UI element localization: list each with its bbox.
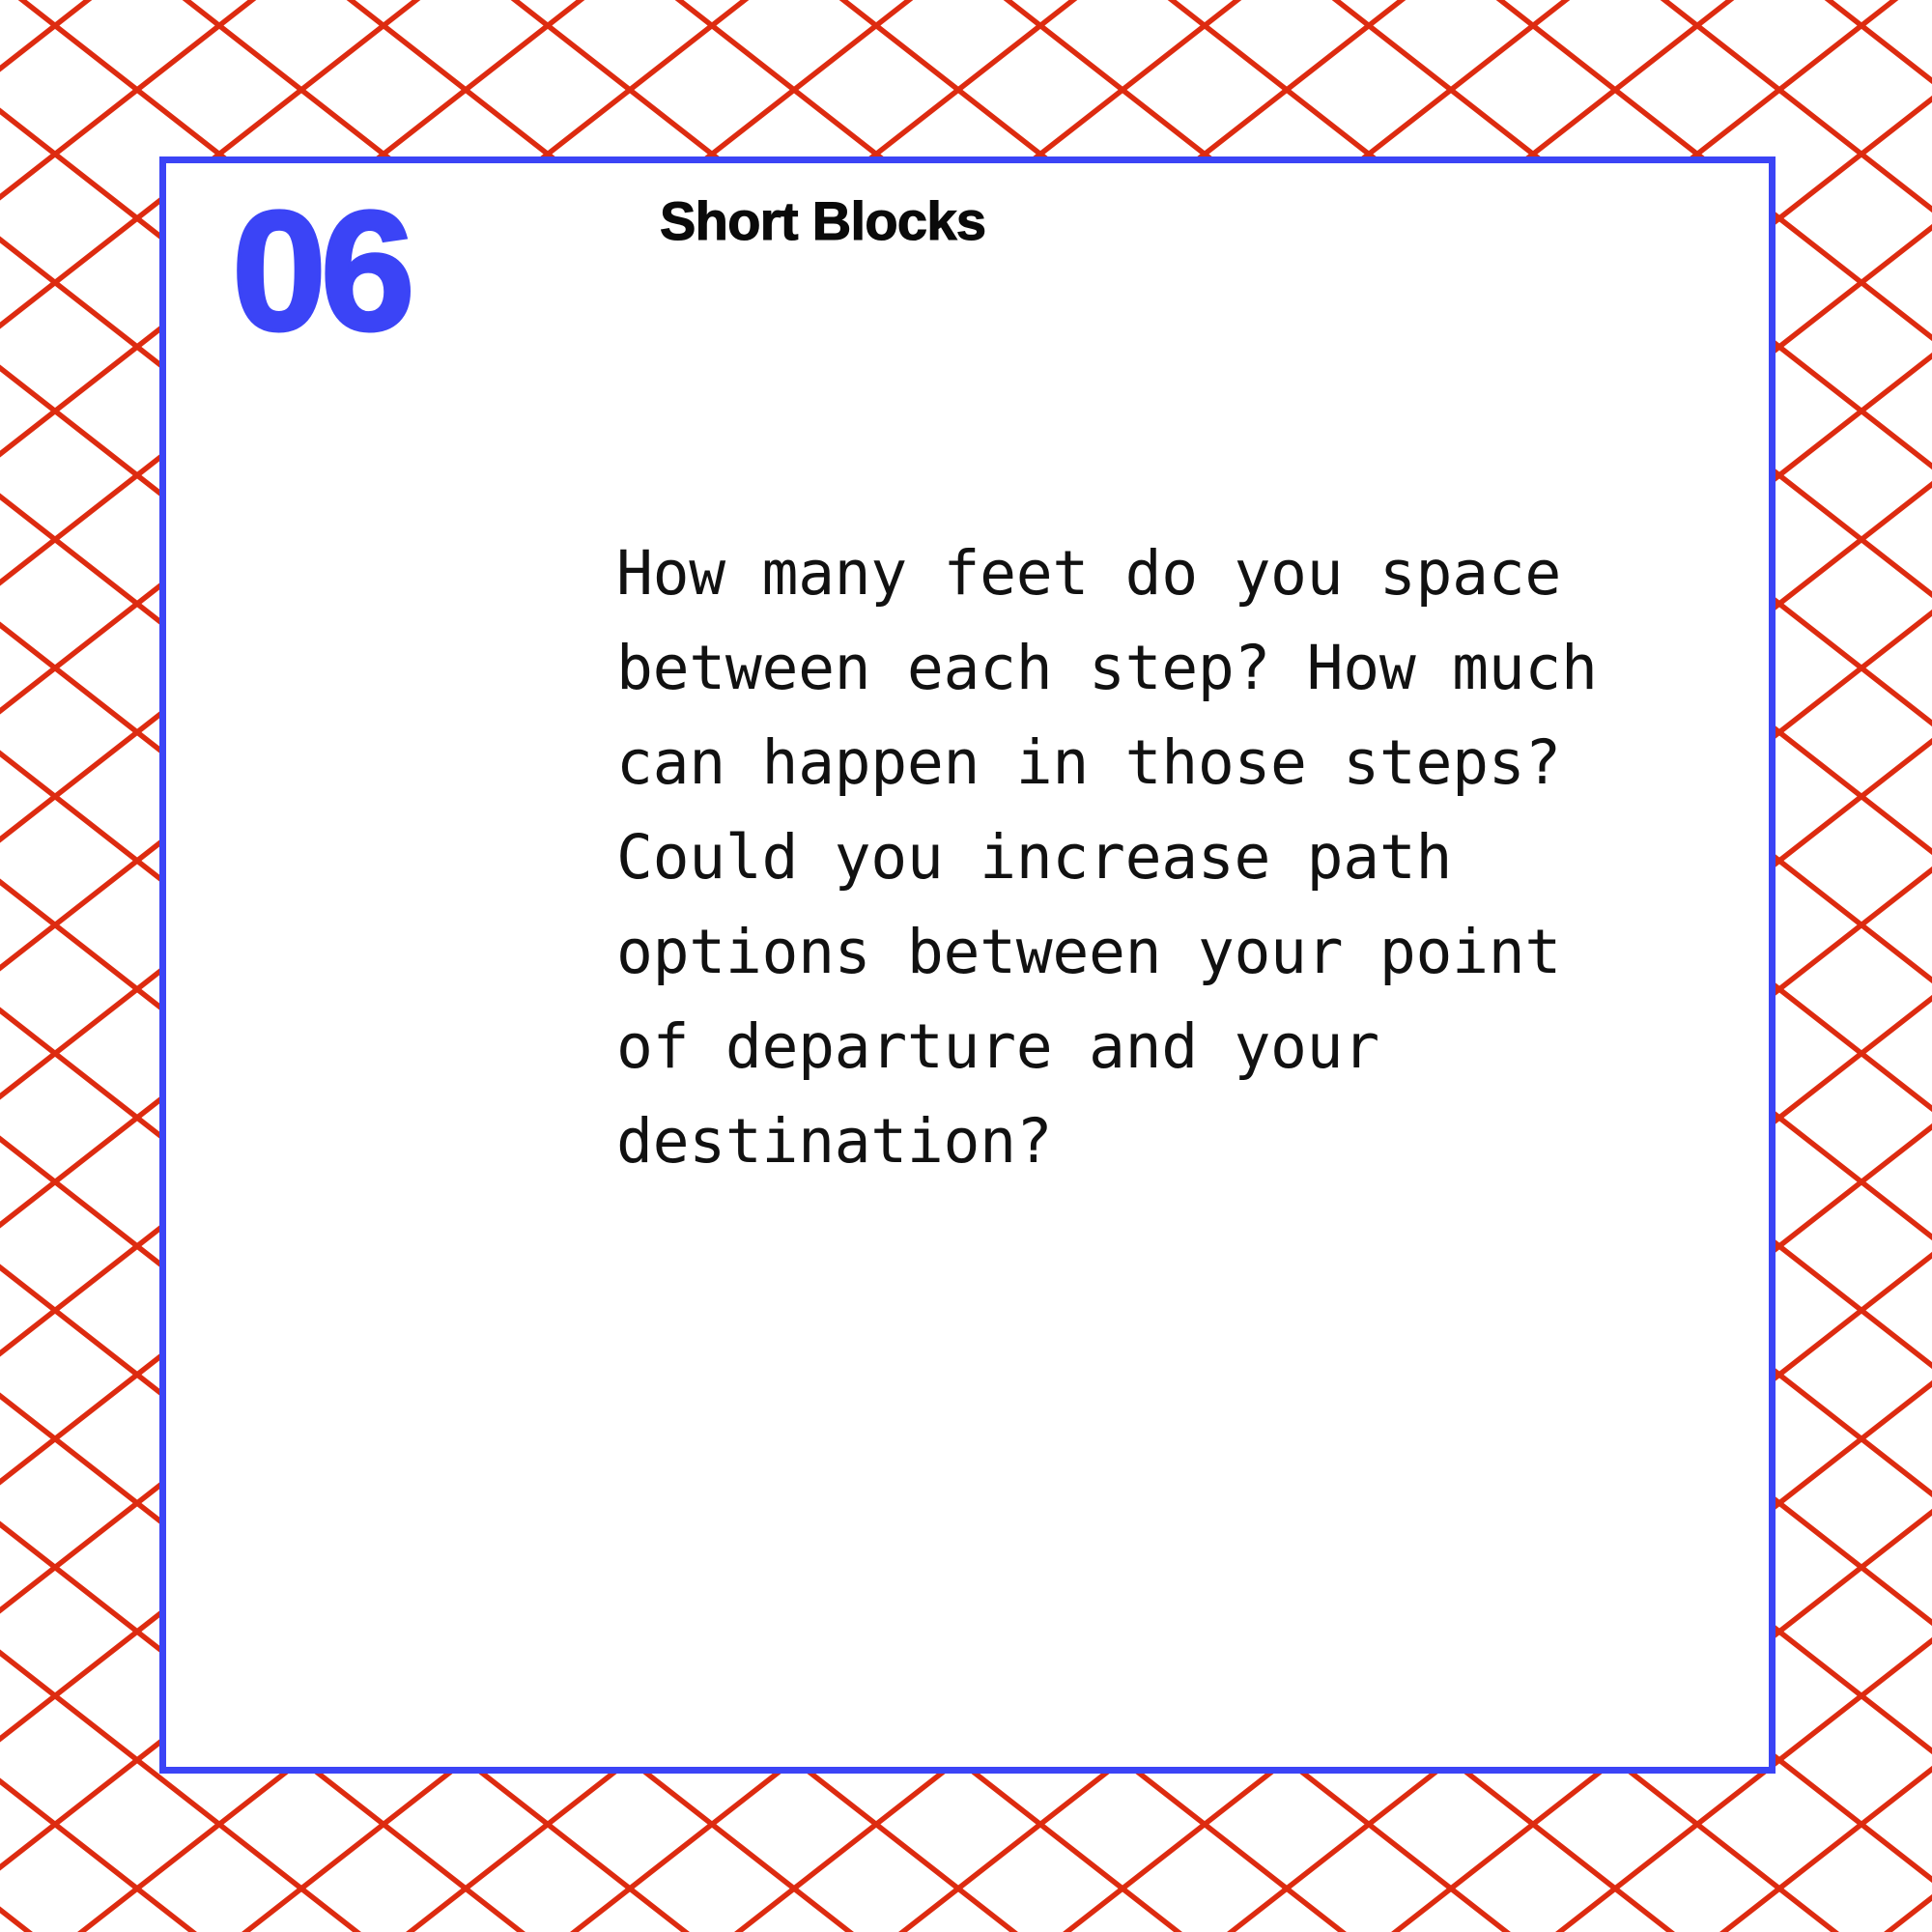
step-number: 06 <box>232 186 409 356</box>
body-line: destination? <box>616 1094 1708 1189</box>
body-line: can happen in those steps? <box>616 716 1708 810</box>
body-line: Could you increase path <box>616 810 1708 905</box>
body-line: of departure and your <box>616 1000 1708 1094</box>
content-card: 06 Short Blocks How many feet do you spa… <box>159 156 1776 1774</box>
card-body-text: How many feet do you space between each … <box>616 526 1708 1189</box>
body-line: How many feet do you space <box>616 526 1708 621</box>
card-header: 06 Short Blocks <box>166 163 1769 414</box>
body-line: between each step? How much <box>616 621 1708 716</box>
body-line: options between your point <box>616 905 1708 1000</box>
page-title: Short Blocks <box>660 194 985 248</box>
slide-canvas: 06 Short Blocks How many feet do you spa… <box>0 0 1932 1932</box>
